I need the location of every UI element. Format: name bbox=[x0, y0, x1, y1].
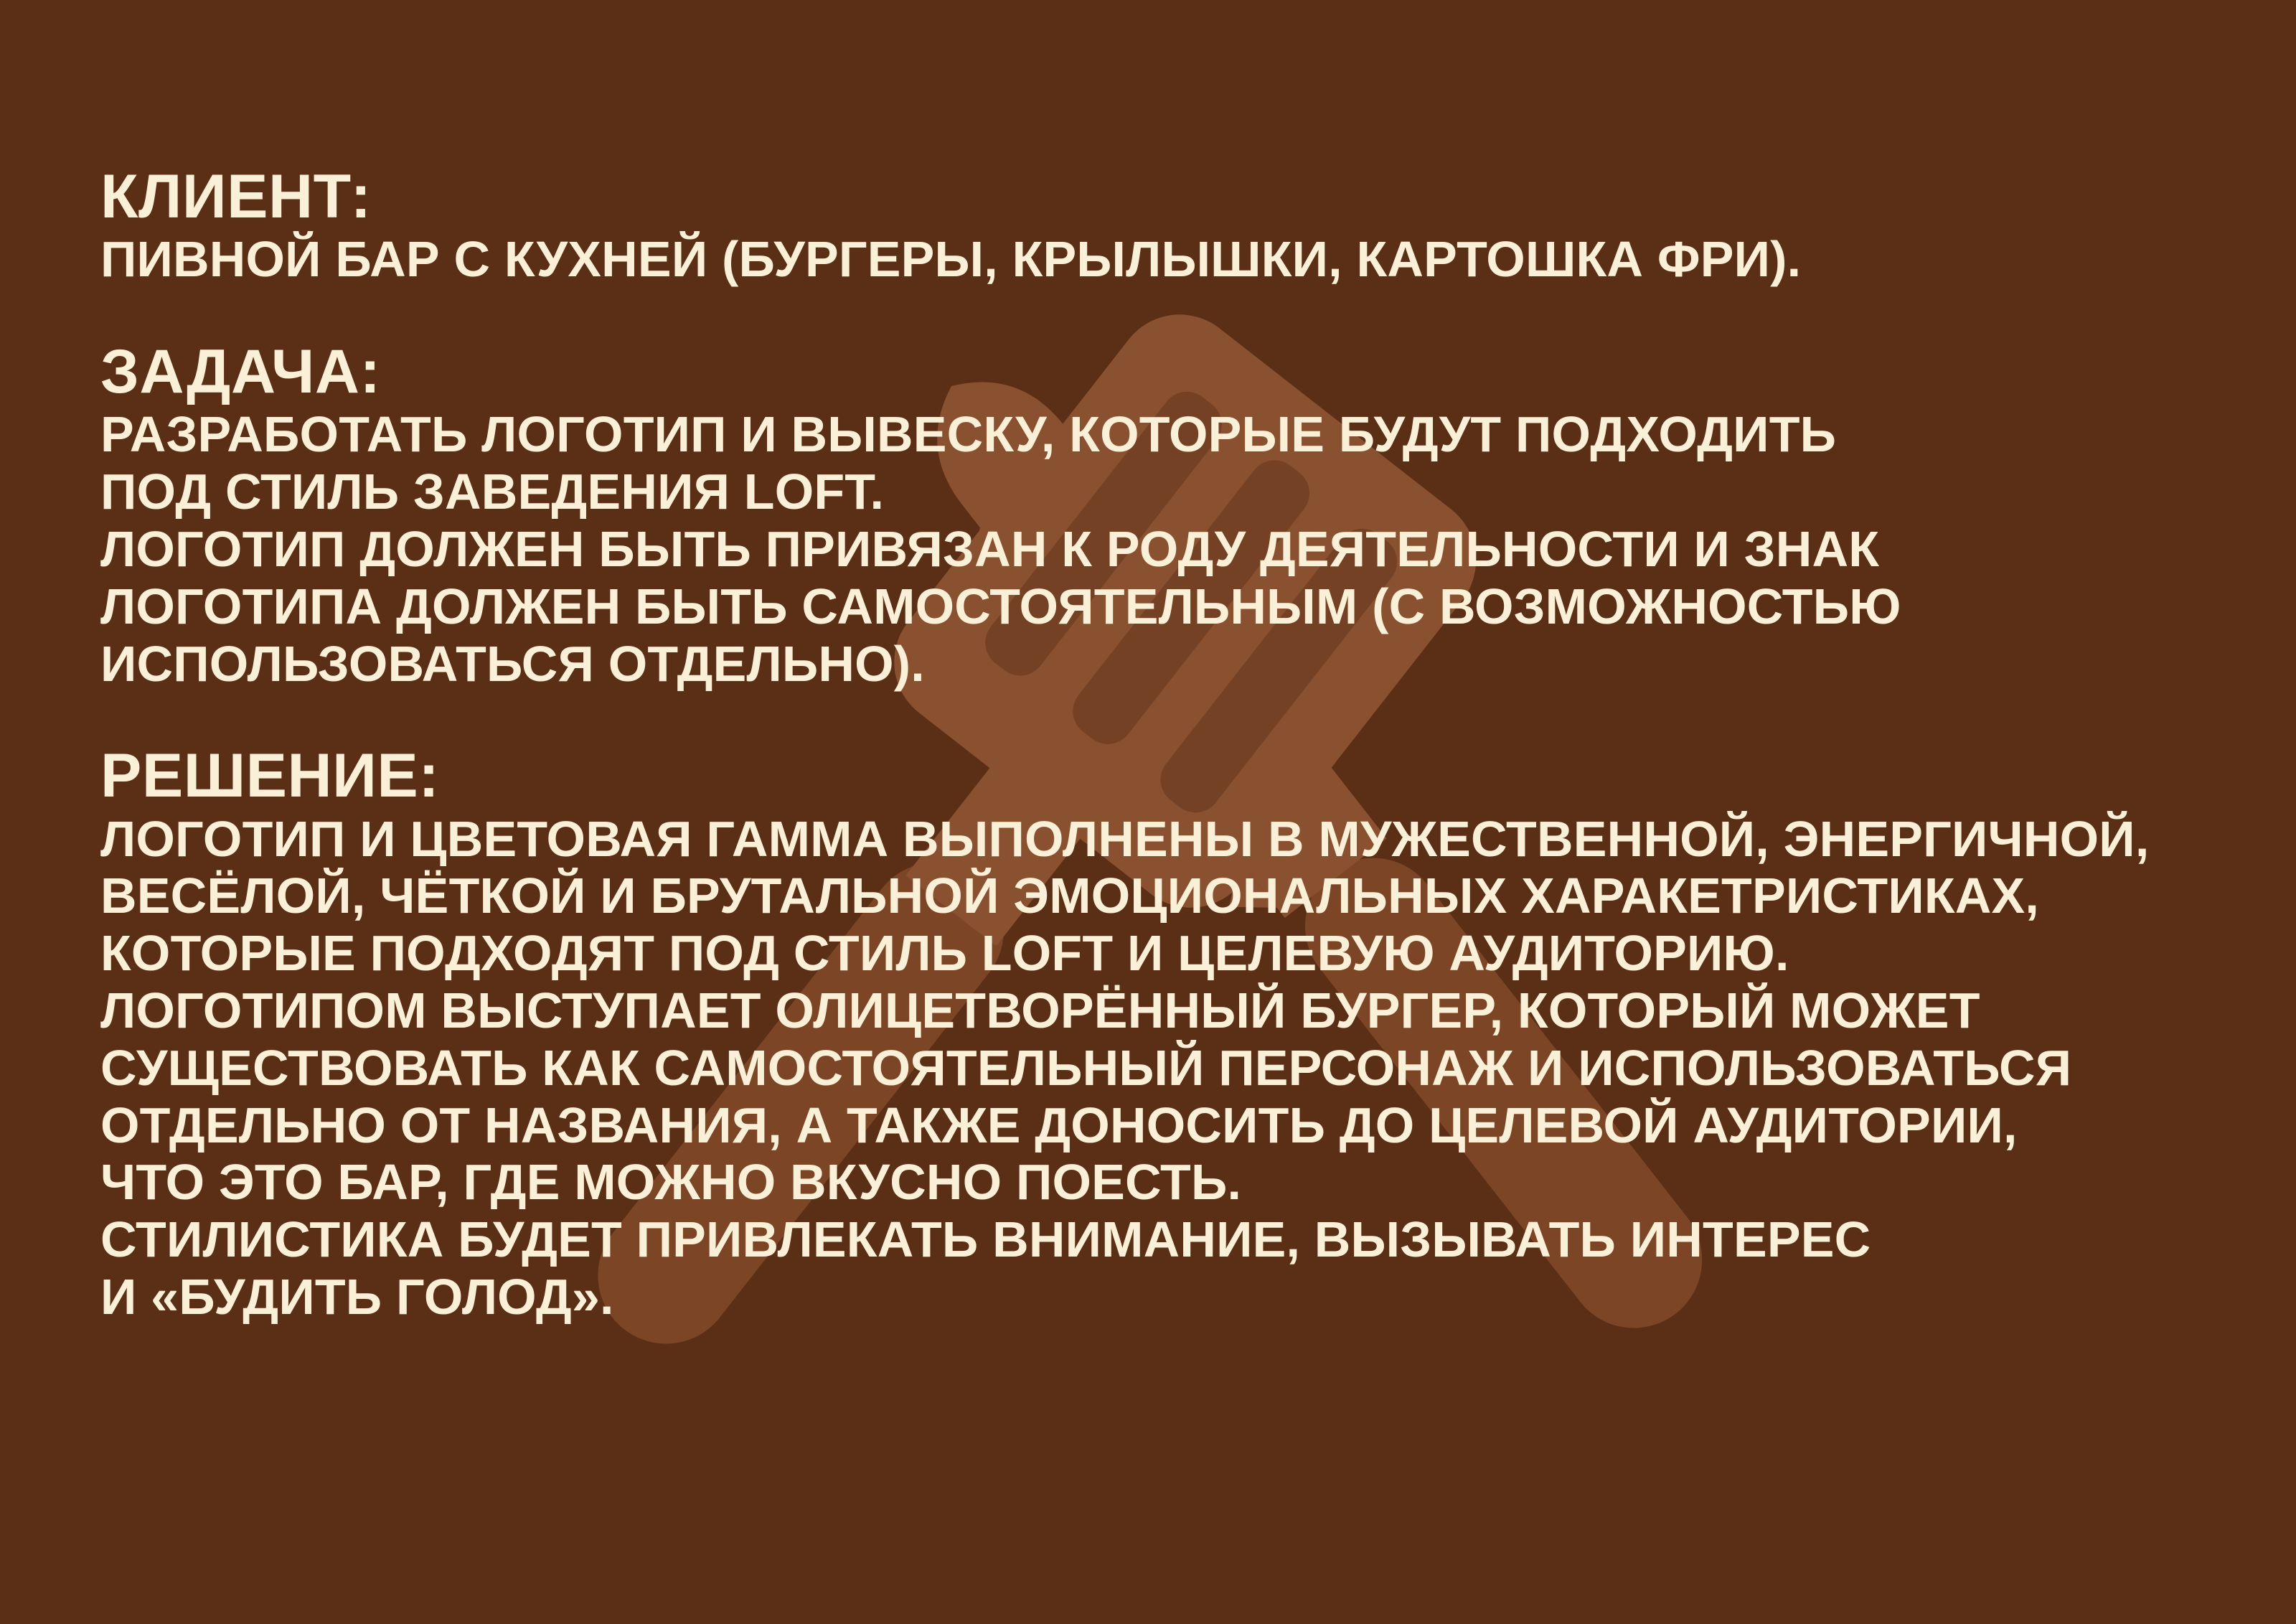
section-heading-task: ЗАДАЧА: bbox=[100, 342, 2224, 402]
body-line: ЛОГОТИП И ЦВЕТОВАЯ ГАММА ВЫПОЛНЕНЫ В МУЖ… bbox=[100, 811, 2224, 868]
section-client: КЛИЕНТ: ПИВНОЙ БАР С КУХНЕЙ (БУРГЕРЫ, КР… bbox=[100, 166, 2224, 288]
section-solution: РЕШЕНИЕ: ЛОГОТИП И ЦВЕТОВАЯ ГАММА ВЫПОЛН… bbox=[100, 746, 2224, 1325]
body-line: ЛОГОТИП ДОЛЖЕН БЫТЬ ПРИВЯЗАН К РОДУ ДЕЯТ… bbox=[100, 521, 2224, 578]
body-line: СТИЛИСТИКА БУДЕТ ПРИВЛЕКАТЬ ВНИМАНИЕ, ВЫ… bbox=[100, 1211, 2224, 1269]
section-heading-client: КЛИЕНТ: bbox=[100, 166, 2224, 227]
body-line: ОТДЕЛЬНО ОТ НАЗВАНИЯ, А ТАКЖЕ ДОНОСИТЬ Д… bbox=[100, 1097, 2224, 1155]
body-line: ИСПОЛЬЗОВАТЬСЯ ОТДЕЛЬНО). bbox=[100, 636, 2224, 693]
body-line: ВЕСЁЛОЙ, ЧЁТКОЙ И БРУТАЛЬНОЙ ЭМОЦИОНАЛЬН… bbox=[100, 868, 2224, 925]
body-line: КОТОРЫЕ ПОДХОДЯТ ПОД СТИЛЬ LOFT И ЦЕЛЕВУ… bbox=[100, 925, 2224, 982]
body-line: ПИВНОЙ БАР С КУХНЕЙ (БУРГЕРЫ, КРЫЛЫШКИ, … bbox=[100, 231, 2224, 288]
body-line: ЧТО ЭТО БАР, ГДЕ МОЖНО ВКУСНО ПОЕСТЬ. bbox=[100, 1154, 2224, 1211]
slide-text-content: КЛИЕНТ: ПИВНОЙ БАР С КУХНЕЙ (БУРГЕРЫ, КР… bbox=[100, 166, 2224, 1326]
section-task: ЗАДАЧА: РАЗРАБОТАТЬ ЛОГОТИП И ВЫВЕСКУ, К… bbox=[100, 342, 2224, 693]
presentation-slide: КЛИЕНТ: ПИВНОЙ БАР С КУХНЕЙ (БУРГЕРЫ, КР… bbox=[0, 0, 2296, 1624]
body-line: ПОД СТИЛЬ ЗАВЕДЕНИЯ LOFT. bbox=[100, 464, 2224, 521]
section-heading-solution: РЕШЕНИЕ: bbox=[100, 746, 2224, 806]
body-line: СУЩЕСТВОВАТЬ КАК САМОСТОЯТЕЛЬНЫЙ ПЕРСОНА… bbox=[100, 1040, 2224, 1097]
body-line: ЛОГОТИПОМ ВЫСТУПАЕТ ОЛИЦЕТВОРЁННЫЙ БУРГЕ… bbox=[100, 982, 2224, 1040]
body-line: ЛОГОТИПА ДОЛЖЕН БЫТЬ САМОСТОЯТЕЛЬНЫМ (С … bbox=[100, 578, 2224, 636]
body-line: И «БУДИТЬ ГОЛОД». bbox=[100, 1269, 2224, 1326]
body-line: РАЗРАБОТАТЬ ЛОГОТИП И ВЫВЕСКУ, КОТОРЫЕ Б… bbox=[100, 406, 2224, 464]
